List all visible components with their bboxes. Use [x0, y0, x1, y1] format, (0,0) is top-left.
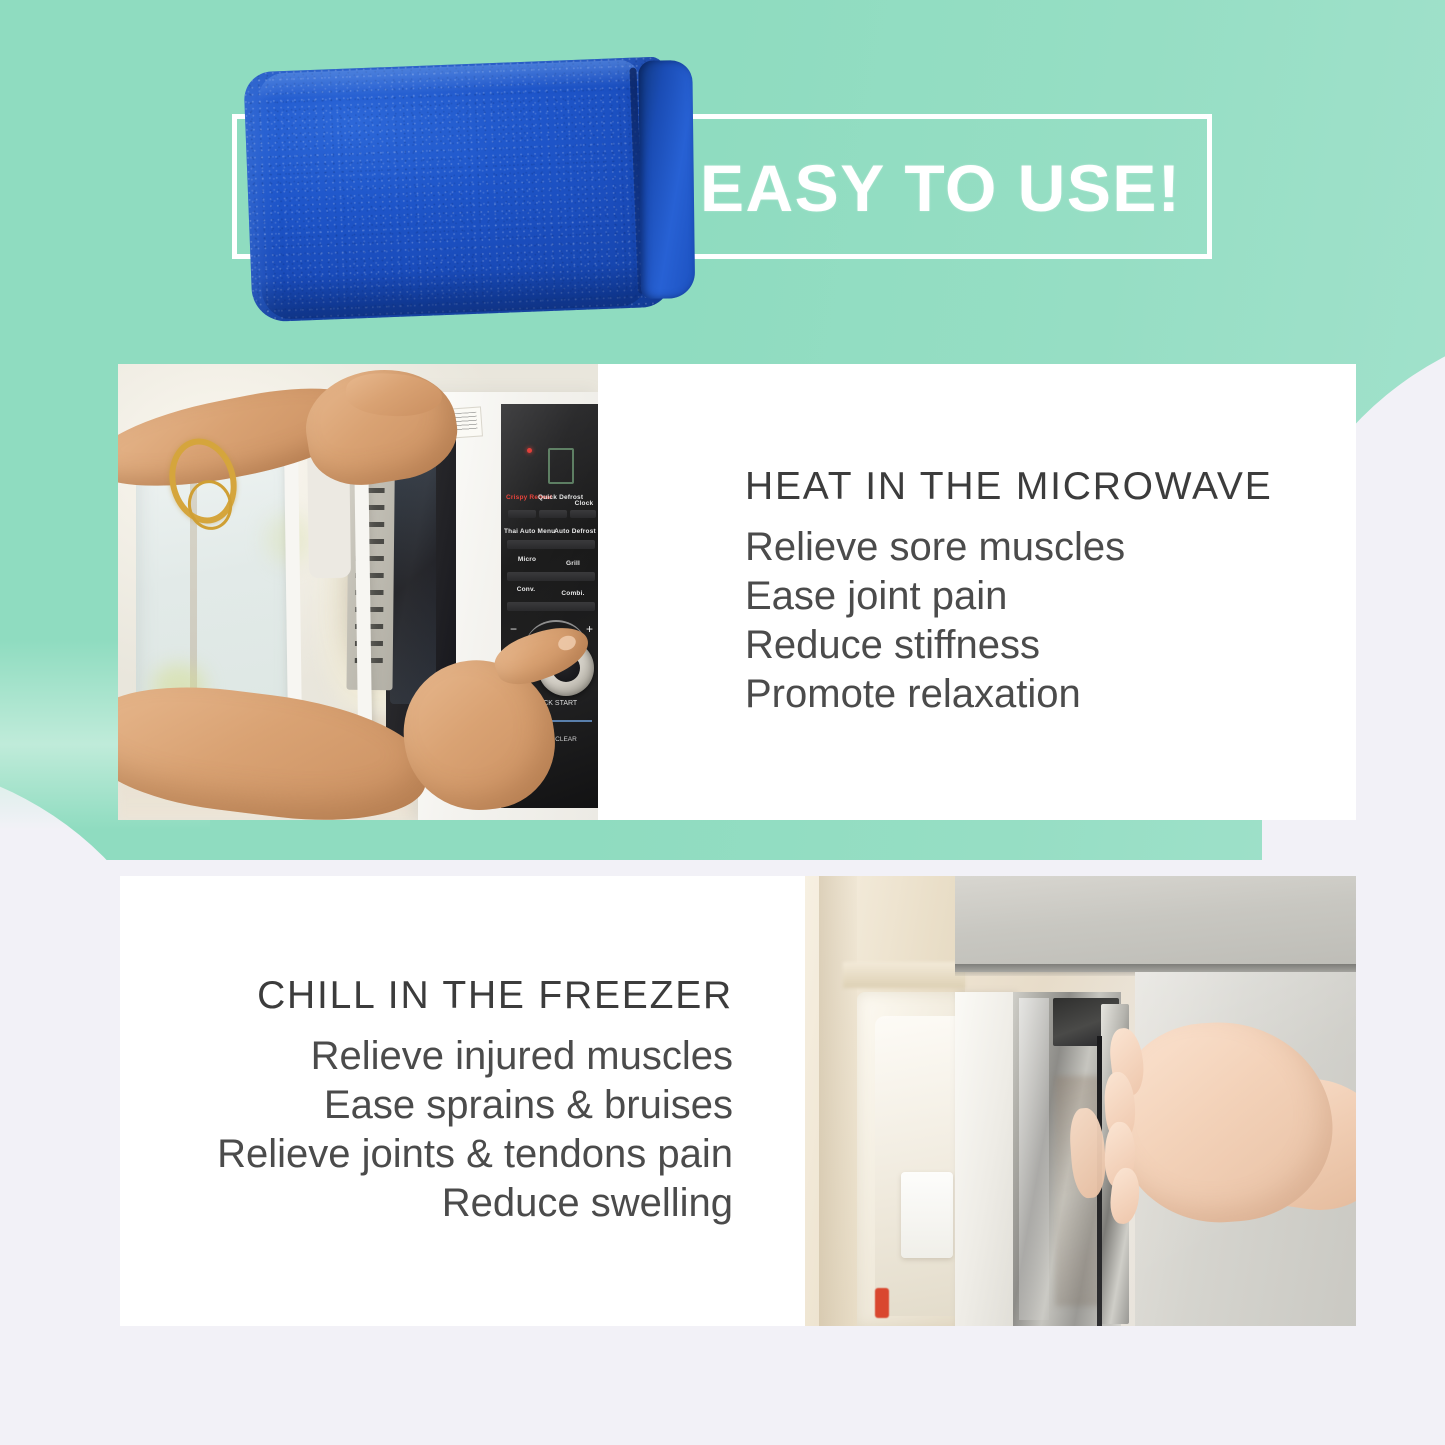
- label-thai-auto-menu: Thai Auto Menu: [504, 528, 552, 535]
- cabinet-shadow: [819, 876, 857, 1326]
- list-item: Relieve joints & tendons pain: [217, 1130, 733, 1179]
- label-combi: Combi.: [556, 590, 590, 597]
- microwave-photo: Crispy Reheat Quick Defrost Clock Thai A…: [118, 364, 598, 820]
- freezer-copy-block: CHILL IN THE FREEZER Relieve injured mus…: [120, 876, 805, 1326]
- cabinet-shelf: [843, 962, 965, 988]
- freezer-photo: [805, 876, 1356, 1326]
- fridge-interior-panel: [875, 1016, 965, 1316]
- product-pouch-image: [243, 56, 697, 325]
- indicator-led: [527, 448, 532, 453]
- freezer-top-compartment: [955, 876, 1356, 972]
- list-item: Relieve sore muscles: [745, 523, 1125, 572]
- freezer-scene: [805, 876, 1356, 1326]
- label-quick-defrost: Quick Defrost: [538, 494, 574, 501]
- label-crispy-reheat: Crispy Reheat: [506, 494, 540, 501]
- microwave-display: [548, 448, 574, 484]
- hero-title: EASY TO USE!: [700, 142, 1200, 234]
- microwave-heading: HEAT IN THE MICROWAVE: [745, 465, 1273, 509]
- list-item: Relieve injured muscles: [217, 1032, 733, 1081]
- button-micro-grill-row[interactable]: [507, 572, 595, 581]
- microwave-scene: Crispy Reheat Quick Defrost Clock Thai A…: [118, 364, 598, 820]
- list-item: Ease joint pain: [745, 572, 1125, 621]
- pouch-folded-flap: [638, 60, 695, 299]
- oven-glass-sheen: [390, 454, 436, 704]
- label-auto-defrost: Auto Defrost: [552, 528, 598, 535]
- list-item: Reduce stiffness: [745, 621, 1125, 670]
- list-item: Reduce swelling: [217, 1179, 733, 1228]
- label-conv: Conv.: [510, 586, 542, 593]
- label-plus: +: [586, 622, 593, 636]
- fridge-door-front-face: [955, 992, 1015, 1326]
- label-clock: Clock: [570, 500, 598, 507]
- chrome-highlight: [1019, 998, 1049, 1320]
- list-item: Promote relaxation: [745, 670, 1125, 719]
- red-item-in-door: [875, 1288, 889, 1318]
- freezer-benefit-list: Relieve injured muscles Ease sprains & b…: [217, 1032, 733, 1229]
- microwave-copy-block: HEAT IN THE MICROWAVE Relieve sore muscl…: [598, 364, 1356, 820]
- button-clock[interactable]: [570, 510, 596, 518]
- microwave-benefit-list: Relieve sore muscles Ease joint pain Red…: [745, 523, 1125, 720]
- button-conv-combi-row[interactable]: [507, 602, 595, 611]
- label-minus: −: [510, 622, 517, 636]
- button-crispy-reheat[interactable]: [508, 510, 536, 518]
- button-quick-defrost[interactable]: [539, 510, 567, 518]
- freezer-heading: CHILL IN THE FREEZER: [257, 974, 733, 1018]
- label-grill: Grill: [558, 560, 588, 567]
- button-auto-menu-row[interactable]: [507, 540, 595, 549]
- fridge-door-bin: [901, 1172, 953, 1258]
- list-item: Ease sprains & bruises: [217, 1081, 733, 1130]
- card-heat-in-the-microwave: Crispy Reheat Quick Defrost Clock Thai A…: [118, 364, 1356, 820]
- infographic-page: EASY TO USE! Crispy Reheat Quick De: [0, 0, 1445, 1445]
- label-micro: Micro: [510, 556, 544, 563]
- card-chill-in-the-freezer: CHILL IN THE FREEZER Relieve injured mus…: [120, 876, 1356, 1326]
